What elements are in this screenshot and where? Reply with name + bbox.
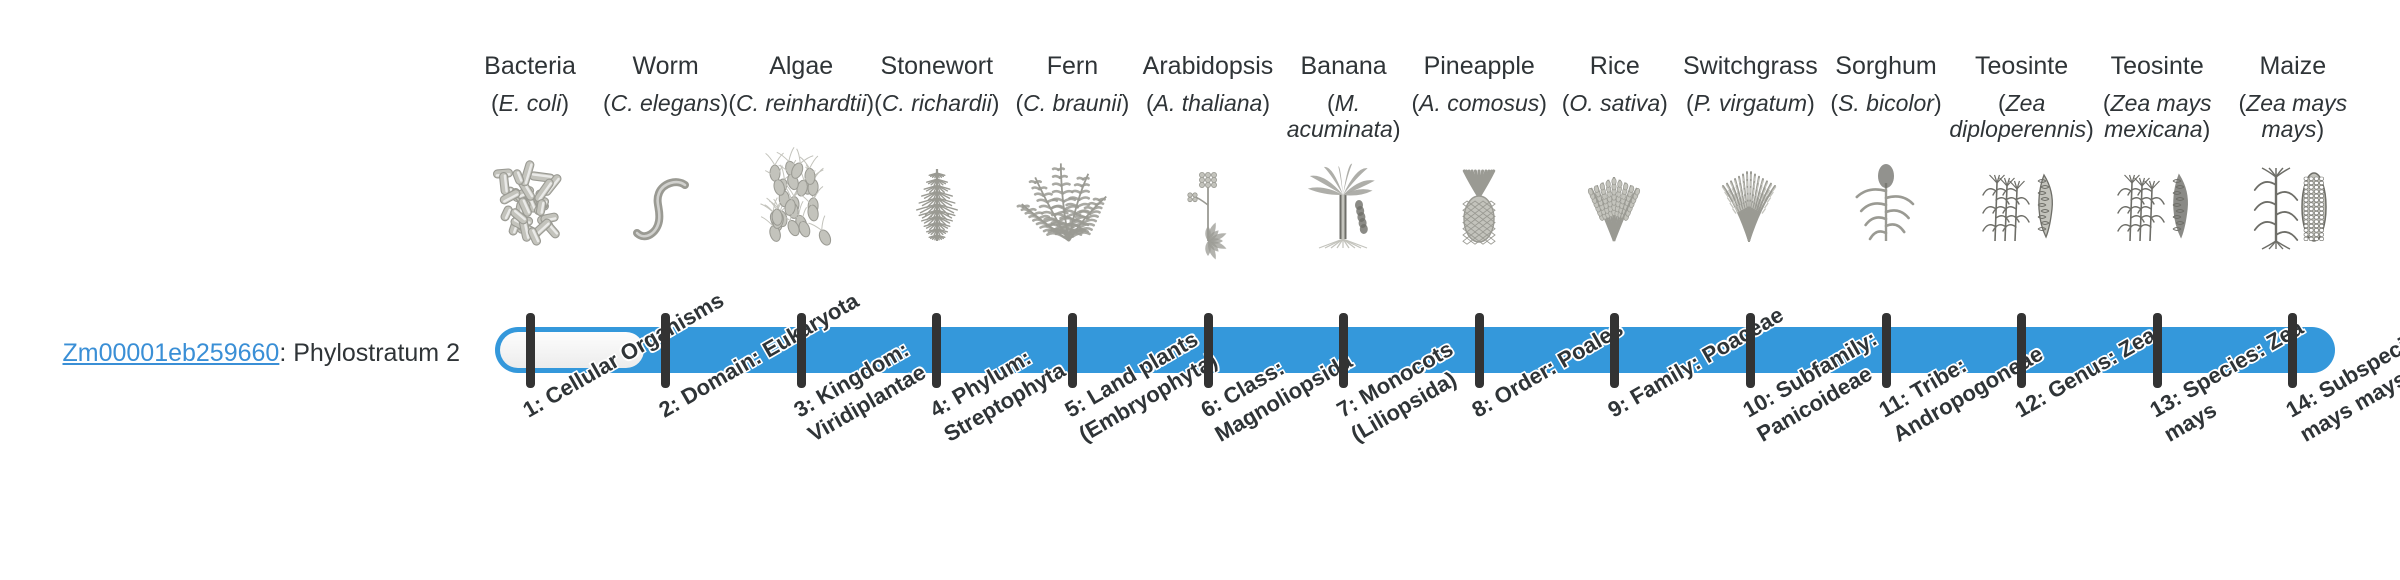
species-column-9: Rice (O. sativa): [1540, 52, 1690, 117]
species-common-name: Fern: [997, 52, 1147, 81]
species-scientific-name: (C. braunii): [997, 91, 1147, 117]
rank-number: 2:: [654, 391, 683, 422]
species-common-name: Bacteria: [455, 52, 605, 81]
species-scientific-name: (O. sativa): [1540, 91, 1690, 117]
phylostratum-tick-5[interactable]: [1068, 313, 1077, 388]
phylostratum-tick-14[interactable]: [2288, 313, 2297, 388]
species-common-name: Rice: [1540, 52, 1690, 81]
species-column-12: Teosinte (Zea diploperennis): [1947, 52, 2097, 142]
species-common-name: Teosinte: [1947, 52, 2097, 81]
species-scientific-name: (A. comosus): [1404, 91, 1554, 117]
arabidopsis-icon: [1133, 163, 1283, 245]
species-scientific-name: (Zea diploperennis): [1947, 91, 2097, 143]
species-scientific-name: (E. coli): [455, 91, 605, 117]
species-common-name: Sorghum: [1811, 52, 1961, 81]
phylostratum-tick-6[interactable]: [1204, 313, 1213, 388]
phylostratum-tick-12[interactable]: [2017, 313, 2026, 388]
species-column-11: Sorghum (S. bicolor): [1811, 52, 1961, 117]
species-scientific-name: (S. bicolor): [1811, 91, 1961, 117]
species-common-name: Arabidopsis: [1133, 52, 1283, 81]
phylostratum-tick-2[interactable]: [661, 313, 670, 388]
stonewort-icon: [862, 163, 1012, 245]
rank-number: 1:: [519, 391, 548, 422]
rank-number: 12:: [2010, 385, 2050, 423]
species-common-name: Algae: [726, 52, 876, 81]
phylostratum-value-text: Phylostratum 2: [293, 339, 460, 367]
species-column-4: Stonewort (C. richardii): [862, 52, 1012, 117]
pineapple-icon: [1404, 163, 1554, 245]
phylostratum-tick-10[interactable]: [1746, 313, 1755, 388]
species-common-name: Stonewort: [862, 52, 1012, 81]
species-scientific-name: (Zea mays mays): [2218, 91, 2368, 143]
worm-icon: [591, 163, 741, 245]
species-scientific-name: (A. thaliana): [1133, 91, 1283, 117]
phylostratum-tick-4[interactable]: [932, 313, 941, 388]
species-common-name: Switchgrass: [1675, 52, 1825, 81]
phylostratum-tick-13[interactable]: [2153, 313, 2162, 388]
species-scientific-name: (M. acuminata): [1269, 91, 1419, 143]
species-column-14: Maize (Zea mays mays): [2218, 52, 2368, 142]
species-scientific-name: (Zea mays mexicana): [2082, 91, 2232, 143]
species-column-13: Teosinte (Zea mays mexicana): [2082, 52, 2232, 142]
banana-icon: [1269, 163, 1419, 245]
species-common-name: Banana: [1269, 52, 1419, 81]
phylostratum-tick-11[interactable]: [1882, 313, 1891, 388]
phylostratum-tick-8[interactable]: [1475, 313, 1484, 388]
maize-icon: [2218, 163, 2368, 245]
species-common-name: Pineapple: [1404, 52, 1554, 81]
teosinte-mexicana-icon: [2082, 163, 2232, 245]
phylostratum-tick-9[interactable]: [1610, 313, 1619, 388]
species-column-10: Switchgrass (P. virgatum): [1675, 52, 1825, 117]
rank-number: 9:: [1603, 391, 1632, 422]
switchgrass-icon: [1675, 163, 1825, 245]
gene-id-link[interactable]: Zm00001eb259660: [62, 339, 279, 367]
phylostratum-tick-7[interactable]: [1339, 313, 1348, 388]
fern-icon: [997, 163, 1147, 245]
bacteria-icon: [455, 163, 605, 245]
species-common-name: Maize: [2218, 52, 2368, 81]
sorghum-icon: [1811, 163, 1961, 245]
species-column-3: Algae (C. reinhardtii): [726, 52, 876, 117]
species-scientific-name: (C. elegans): [591, 91, 741, 117]
species-column-6: Arabidopsis (A. thaliana): [1133, 52, 1283, 117]
phylostratum-tick-3[interactable]: [797, 313, 806, 388]
species-column-8: Pineapple (A. comosus): [1404, 52, 1554, 117]
species-common-name: Teosinte: [2082, 52, 2232, 81]
rice-icon: [1540, 163, 1690, 245]
species-column-5: Fern (C. braunii): [997, 52, 1147, 117]
species-column-2: Worm (C. elegans): [591, 52, 741, 117]
gene-label: Zm00001eb259660: Phylostratum 2: [40, 340, 460, 368]
species-scientific-name: (C. reinhardtii): [726, 91, 876, 117]
phylostratum-timeline: Zm00001eb259660: Phylostratum 2 Bacteria…: [0, 0, 2400, 580]
algae-icon: [726, 163, 876, 245]
rank-number: 8:: [1468, 391, 1497, 422]
species-column-1: Bacteria (E. coli): [455, 52, 605, 117]
phylostratum-tick-1[interactable]: [526, 313, 535, 388]
species-scientific-name: (P. virgatum): [1675, 91, 1825, 117]
teosinte-diploperennis-icon: [1947, 163, 2097, 245]
gene-label-separator: :: [279, 339, 293, 367]
species-column-7: Banana (M. acuminata): [1269, 52, 1419, 142]
species-scientific-name: (C. richardii): [862, 91, 1012, 117]
species-common-name: Worm: [591, 52, 741, 81]
